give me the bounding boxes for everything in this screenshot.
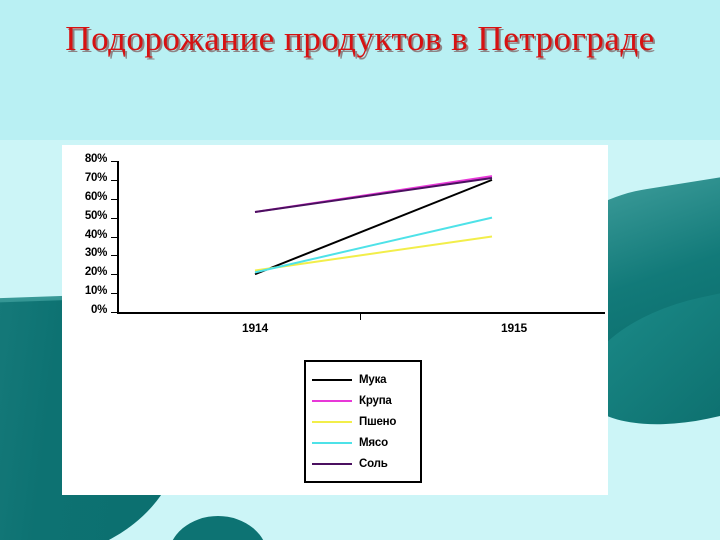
legend-item: Соль <box>312 453 412 474</box>
legend-color-swatch <box>312 463 352 465</box>
chart-panel: 80%70%60%50%40%30%20%10%0% 19141915 Мука… <box>62 145 608 495</box>
slide-title: Подорожание продуктов в Петрограде <box>0 18 720 61</box>
chart-legend: МукаКрупаПшеноМясоСоль <box>304 360 422 483</box>
slide-canvas: Подорожание продуктов в Петрограде 80%70… <box>0 0 720 540</box>
legend-item-label: Мясо <box>359 437 388 449</box>
legend-color-swatch <box>312 379 352 381</box>
legend-item-label: Мука <box>359 374 386 386</box>
legend-color-swatch <box>312 400 352 402</box>
legend-item: Мясо <box>312 432 412 453</box>
legend-item-label: Соль <box>359 458 388 470</box>
series-line-мясо <box>255 218 492 273</box>
legend-item-label: Крупа <box>359 395 392 407</box>
legend-item: Пшено <box>312 411 412 432</box>
legend-item: Крупа <box>312 390 412 411</box>
legend-item: Мука <box>312 369 412 390</box>
legend-item-label: Пшено <box>359 416 396 428</box>
legend-color-swatch <box>312 442 352 444</box>
chart-plot-area: 80%70%60%50%40%30%20%10%0% 19141915 Мука… <box>62 145 608 495</box>
legend-color-swatch <box>312 421 352 423</box>
series-line-пшено <box>255 237 492 271</box>
